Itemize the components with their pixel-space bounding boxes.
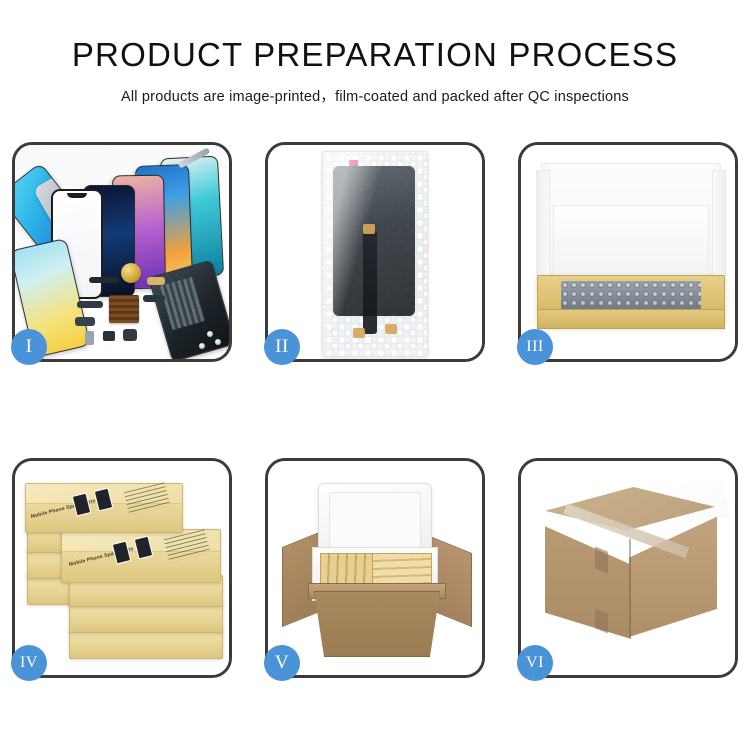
page-title: PRODUCT PREPARATION PROCESS — [0, 0, 750, 74]
plastic-sheen — [323, 152, 427, 356]
screw-icon-3 — [199, 343, 205, 349]
bubble-wrap-bag — [322, 151, 428, 357]
process-steps-grid: I II — [12, 142, 738, 682]
step-panel-3[interactable]: III — [518, 142, 738, 362]
sim-tray — [85, 331, 94, 345]
flex-cable-1 — [77, 301, 103, 308]
page-subtitle: All products are image-printed，film-coat… — [0, 74, 750, 106]
flex-cable-2 — [75, 317, 95, 326]
step-image-4: Mobile Phone Spare Parts Mobile Phone Sp… — [15, 461, 229, 675]
step-panel-6[interactable]: VI — [518, 458, 738, 678]
carton-corner-edge — [629, 539, 631, 637]
open-carton — [284, 483, 470, 659]
step-badge-5: V — [264, 645, 300, 681]
carton-tab-lower — [595, 608, 608, 633]
step-badge-3: III — [517, 329, 553, 365]
step-image-5 — [268, 461, 482, 675]
foam-cooler-lid — [318, 483, 432, 557]
screw-icon-2 — [215, 339, 221, 345]
carton-right-face — [629, 509, 717, 637]
box-tray-front — [537, 309, 725, 329]
step-panel-1[interactable]: I — [12, 142, 232, 362]
header: PRODUCT PREPARATION PROCESS All products… — [0, 0, 750, 106]
flex-cable-4 — [143, 295, 165, 302]
step-badge-4: IV — [11, 645, 47, 681]
taptic-module — [123, 329, 137, 341]
stack-box-labeled-back: Mobile Phone Spare Parts — [25, 483, 183, 533]
screw-icon-1 — [207, 331, 213, 337]
step-image-1 — [15, 145, 229, 359]
sealed-carton — [537, 487, 727, 655]
step-panel-2[interactable]: II — [265, 142, 485, 362]
flex-cable-3 — [147, 277, 165, 285]
carton-left-face — [545, 519, 631, 639]
camera-module — [103, 331, 115, 341]
step-panel-4[interactable]: Mobile Phone Spare Parts Mobile Phone Sp… — [12, 458, 232, 678]
step-badge-1: I — [11, 329, 47, 365]
spare-parts-group — [73, 261, 205, 353]
step-badge-6: VI — [517, 645, 553, 681]
foam-sheet — [553, 205, 709, 281]
open-flat-box — [535, 163, 725, 343]
carton-body — [314, 591, 440, 657]
chip-array — [109, 295, 139, 323]
antenna-strip — [89, 277, 119, 283]
speaker-coil-icon — [121, 263, 141, 283]
step-image-3 — [521, 145, 735, 359]
product-preparation-page: PRODUCT PREPARATION PROCESS All products… — [0, 0, 750, 750]
notch-icon — [67, 193, 87, 198]
stack-box-labeled-front: Mobile Phone Spare Parts — [61, 529, 221, 583]
step-image-2 — [268, 145, 482, 359]
step-badge-2: II — [264, 329, 300, 365]
box-stack: Mobile Phone Spare Parts Mobile Phone Sp… — [25, 477, 223, 665]
carton-tab-upper — [595, 546, 608, 573]
step-panel-5[interactable]: V — [265, 458, 485, 678]
step-image-6 — [521, 461, 735, 675]
